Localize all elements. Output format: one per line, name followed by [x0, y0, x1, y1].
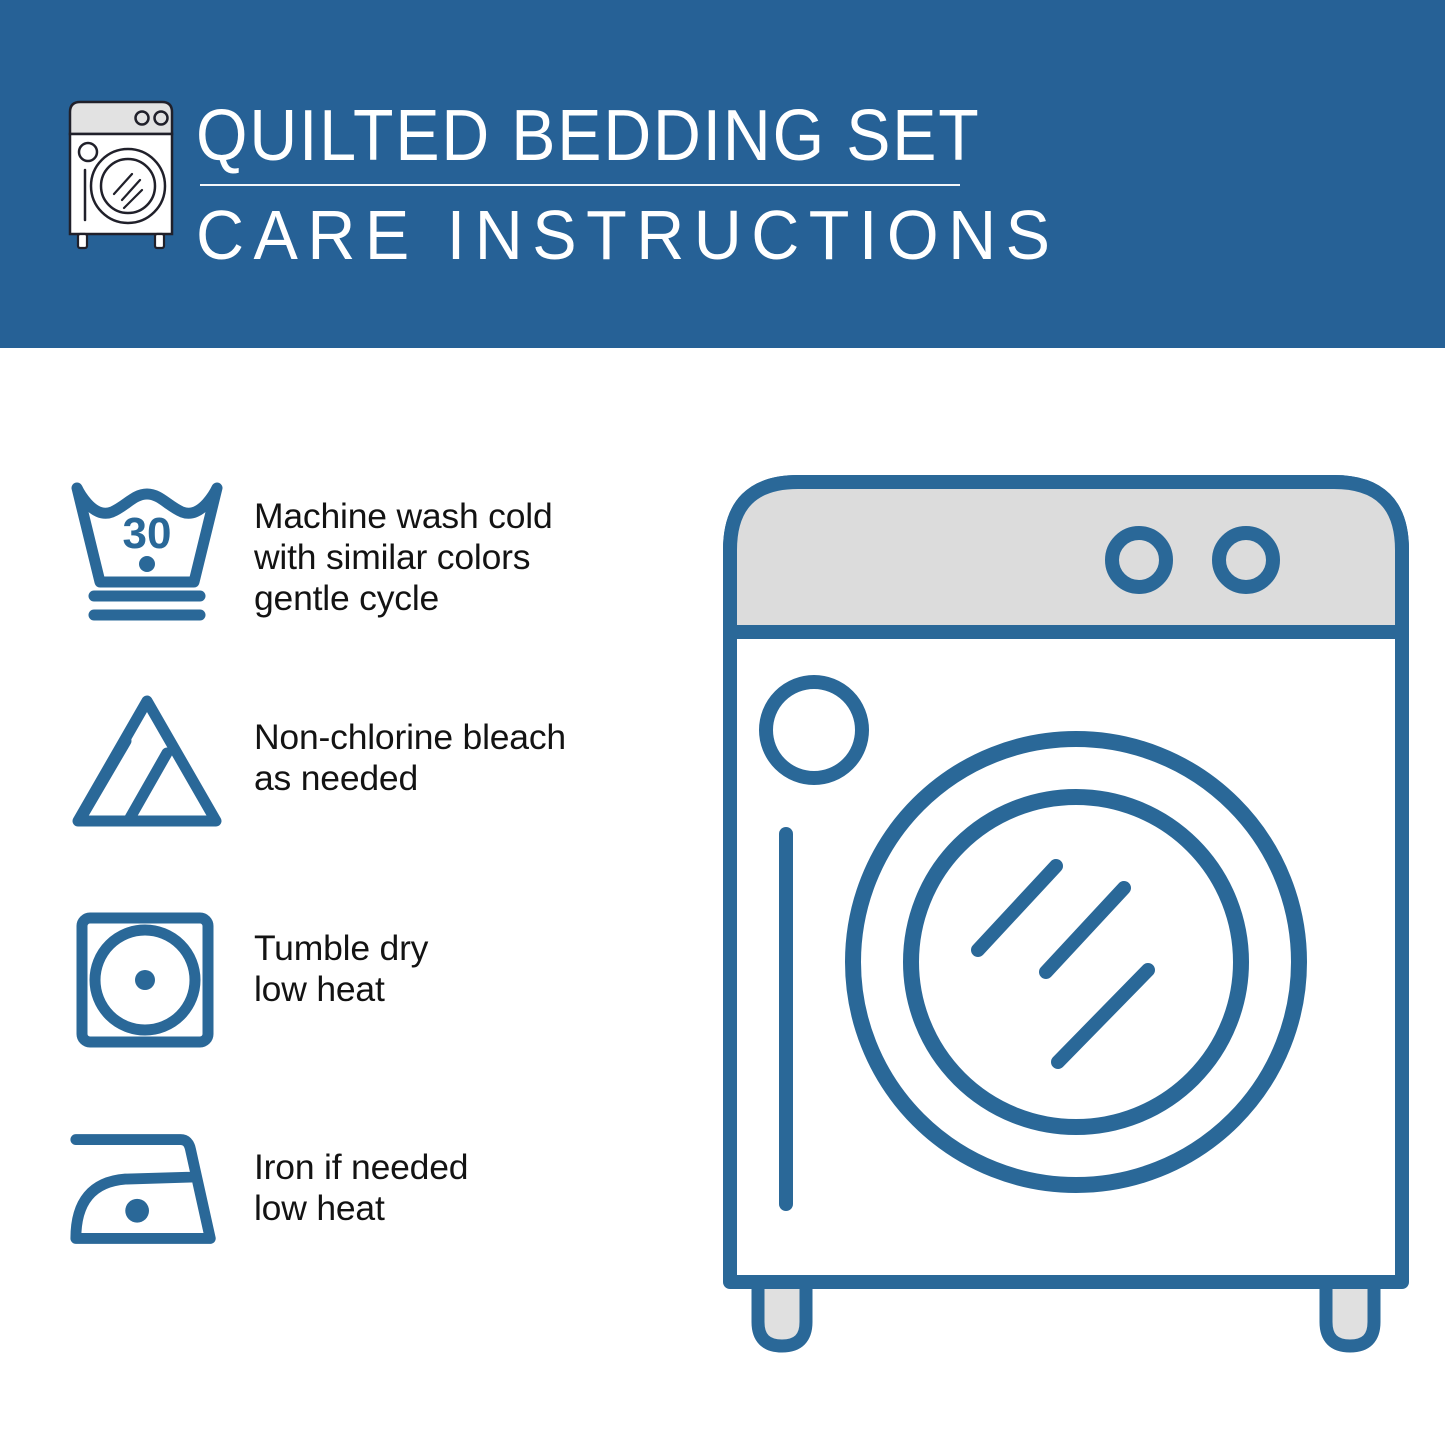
washer-control-panel — [730, 482, 1402, 632]
wash-tub-30-icon: 30 — [64, 470, 234, 628]
washer-knob-1 — [1112, 533, 1166, 587]
care-row: Iron if needed low heat — [64, 1115, 684, 1330]
care-row-label: Non-chlorine bleach as needed — [234, 685, 566, 799]
washing-machine-illustration — [716, 462, 1416, 1372]
washer-knob-2 — [1219, 533, 1273, 587]
page-subtitle: CARE INSTRUCTIONS — [196, 198, 1059, 272]
washing-machine-icon — [62, 96, 180, 254]
care-row-label: Iron if needed low heat — [234, 1115, 468, 1229]
tumble-dry-low-icon — [64, 900, 234, 1054]
care-instruction-list: 30 Machine wash cold with similar colors… — [64, 470, 684, 1330]
dryer-heat-dot — [135, 970, 155, 990]
non-chlorine-bleach-triangle-icon — [64, 685, 234, 837]
care-instructions-infographic: QUILTED BEDDING SET CARE INSTRUCTIONS 30 — [0, 0, 1445, 1445]
header-banner: QUILTED BEDDING SET CARE INSTRUCTIONS — [0, 0, 1445, 348]
iron-low-heat-icon — [64, 1115, 234, 1255]
header-content: QUILTED BEDDING SET CARE INSTRUCTIONS — [62, 96, 1105, 272]
care-row: Tumble dry low heat — [64, 900, 684, 1115]
care-row: Non-chlorine bleach as needed — [64, 685, 684, 900]
header-divider — [200, 184, 960, 186]
wash-dot — [139, 556, 155, 572]
header-text-column: QUILTED BEDDING SET CARE INSTRUCTIONS — [196, 98, 1105, 272]
care-row: 30 Machine wash cold with similar colors… — [64, 470, 684, 685]
wash-temperature-label: 30 — [123, 509, 172, 558]
care-row-label: Machine wash cold with similar colors ge… — [234, 470, 553, 619]
detergent-port-icon — [766, 682, 862, 778]
washer-door-inner — [911, 797, 1241, 1127]
care-row-label: Tumble dry low heat — [234, 900, 428, 1010]
page-title: QUILTED BEDDING SET — [196, 98, 1032, 174]
iron-heat-dot — [125, 1199, 149, 1223]
